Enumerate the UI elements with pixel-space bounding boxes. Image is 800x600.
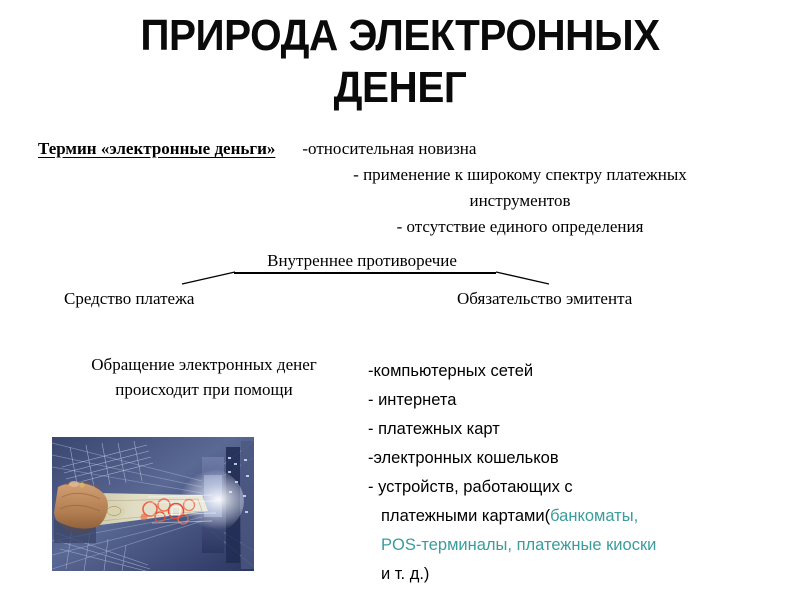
circulation-lead-line-1: Обращение электронных денег [44, 352, 364, 377]
means-item-5-line-3: POS-терминалы, платежные киоски [368, 531, 788, 560]
term-item-1: -относительная новизна [302, 136, 476, 162]
presentation-slide: ПРИРОДА ЭЛЕКТРОННЫХ ДЕНЕГ Термин «электр… [0, 0, 800, 600]
contradiction-left-branch-label: Средство платежа [64, 289, 194, 309]
term-item-2: - применение к широкому спектру платежны… [38, 162, 762, 188]
term-heading: Термин «электронные деньги» [38, 136, 275, 162]
contradiction-diagram: Внутреннее противоречие Средство платежа… [0, 250, 800, 320]
means-item-4: -электронных кошельков [368, 444, 788, 473]
term-item-4: - отсутствие единого определения [38, 214, 762, 240]
means-item-5-line-2-teal: банкоматы, [550, 507, 638, 525]
contradiction-right-branch-label: Обязательство эмитента [457, 289, 632, 309]
term-first-row: Термин «электронные деньги»-относительна… [38, 136, 762, 162]
term-definition-block: Термин «электронные деньги»-относительна… [38, 136, 762, 240]
photo-graphic [52, 437, 254, 571]
means-item-5-line-4: и т. д.) [368, 560, 788, 589]
means-item-5-line-1: - устройств, работающих с [368, 473, 788, 502]
means-list: -компьютерных сетей - интернета - платеж… [368, 357, 788, 589]
term-item-3: инструментов [38, 188, 762, 214]
means-item-3: - платежных карт [368, 415, 788, 444]
electronic-money-photo [52, 437, 254, 571]
circulation-lead-line-2: происходит при помощи [44, 377, 364, 402]
means-item-5-line-2-black: платежными картами( [381, 507, 550, 525]
means-item-5: - устройств, работающих с платежными кар… [368, 473, 788, 589]
means-item-1: -компьютерных сетей [368, 357, 788, 386]
means-item-2: - интернета [368, 386, 788, 415]
page-title: ПРИРОДА ЭЛЕКТРОННЫХ ДЕНЕГ [69, 10, 731, 114]
circulation-lead-text: Обращение электронных денег происходит п… [44, 352, 364, 402]
contradiction-branch-lines [0, 250, 800, 320]
means-item-5-line-2: платежными картами(банкоматы, [368, 502, 788, 531]
